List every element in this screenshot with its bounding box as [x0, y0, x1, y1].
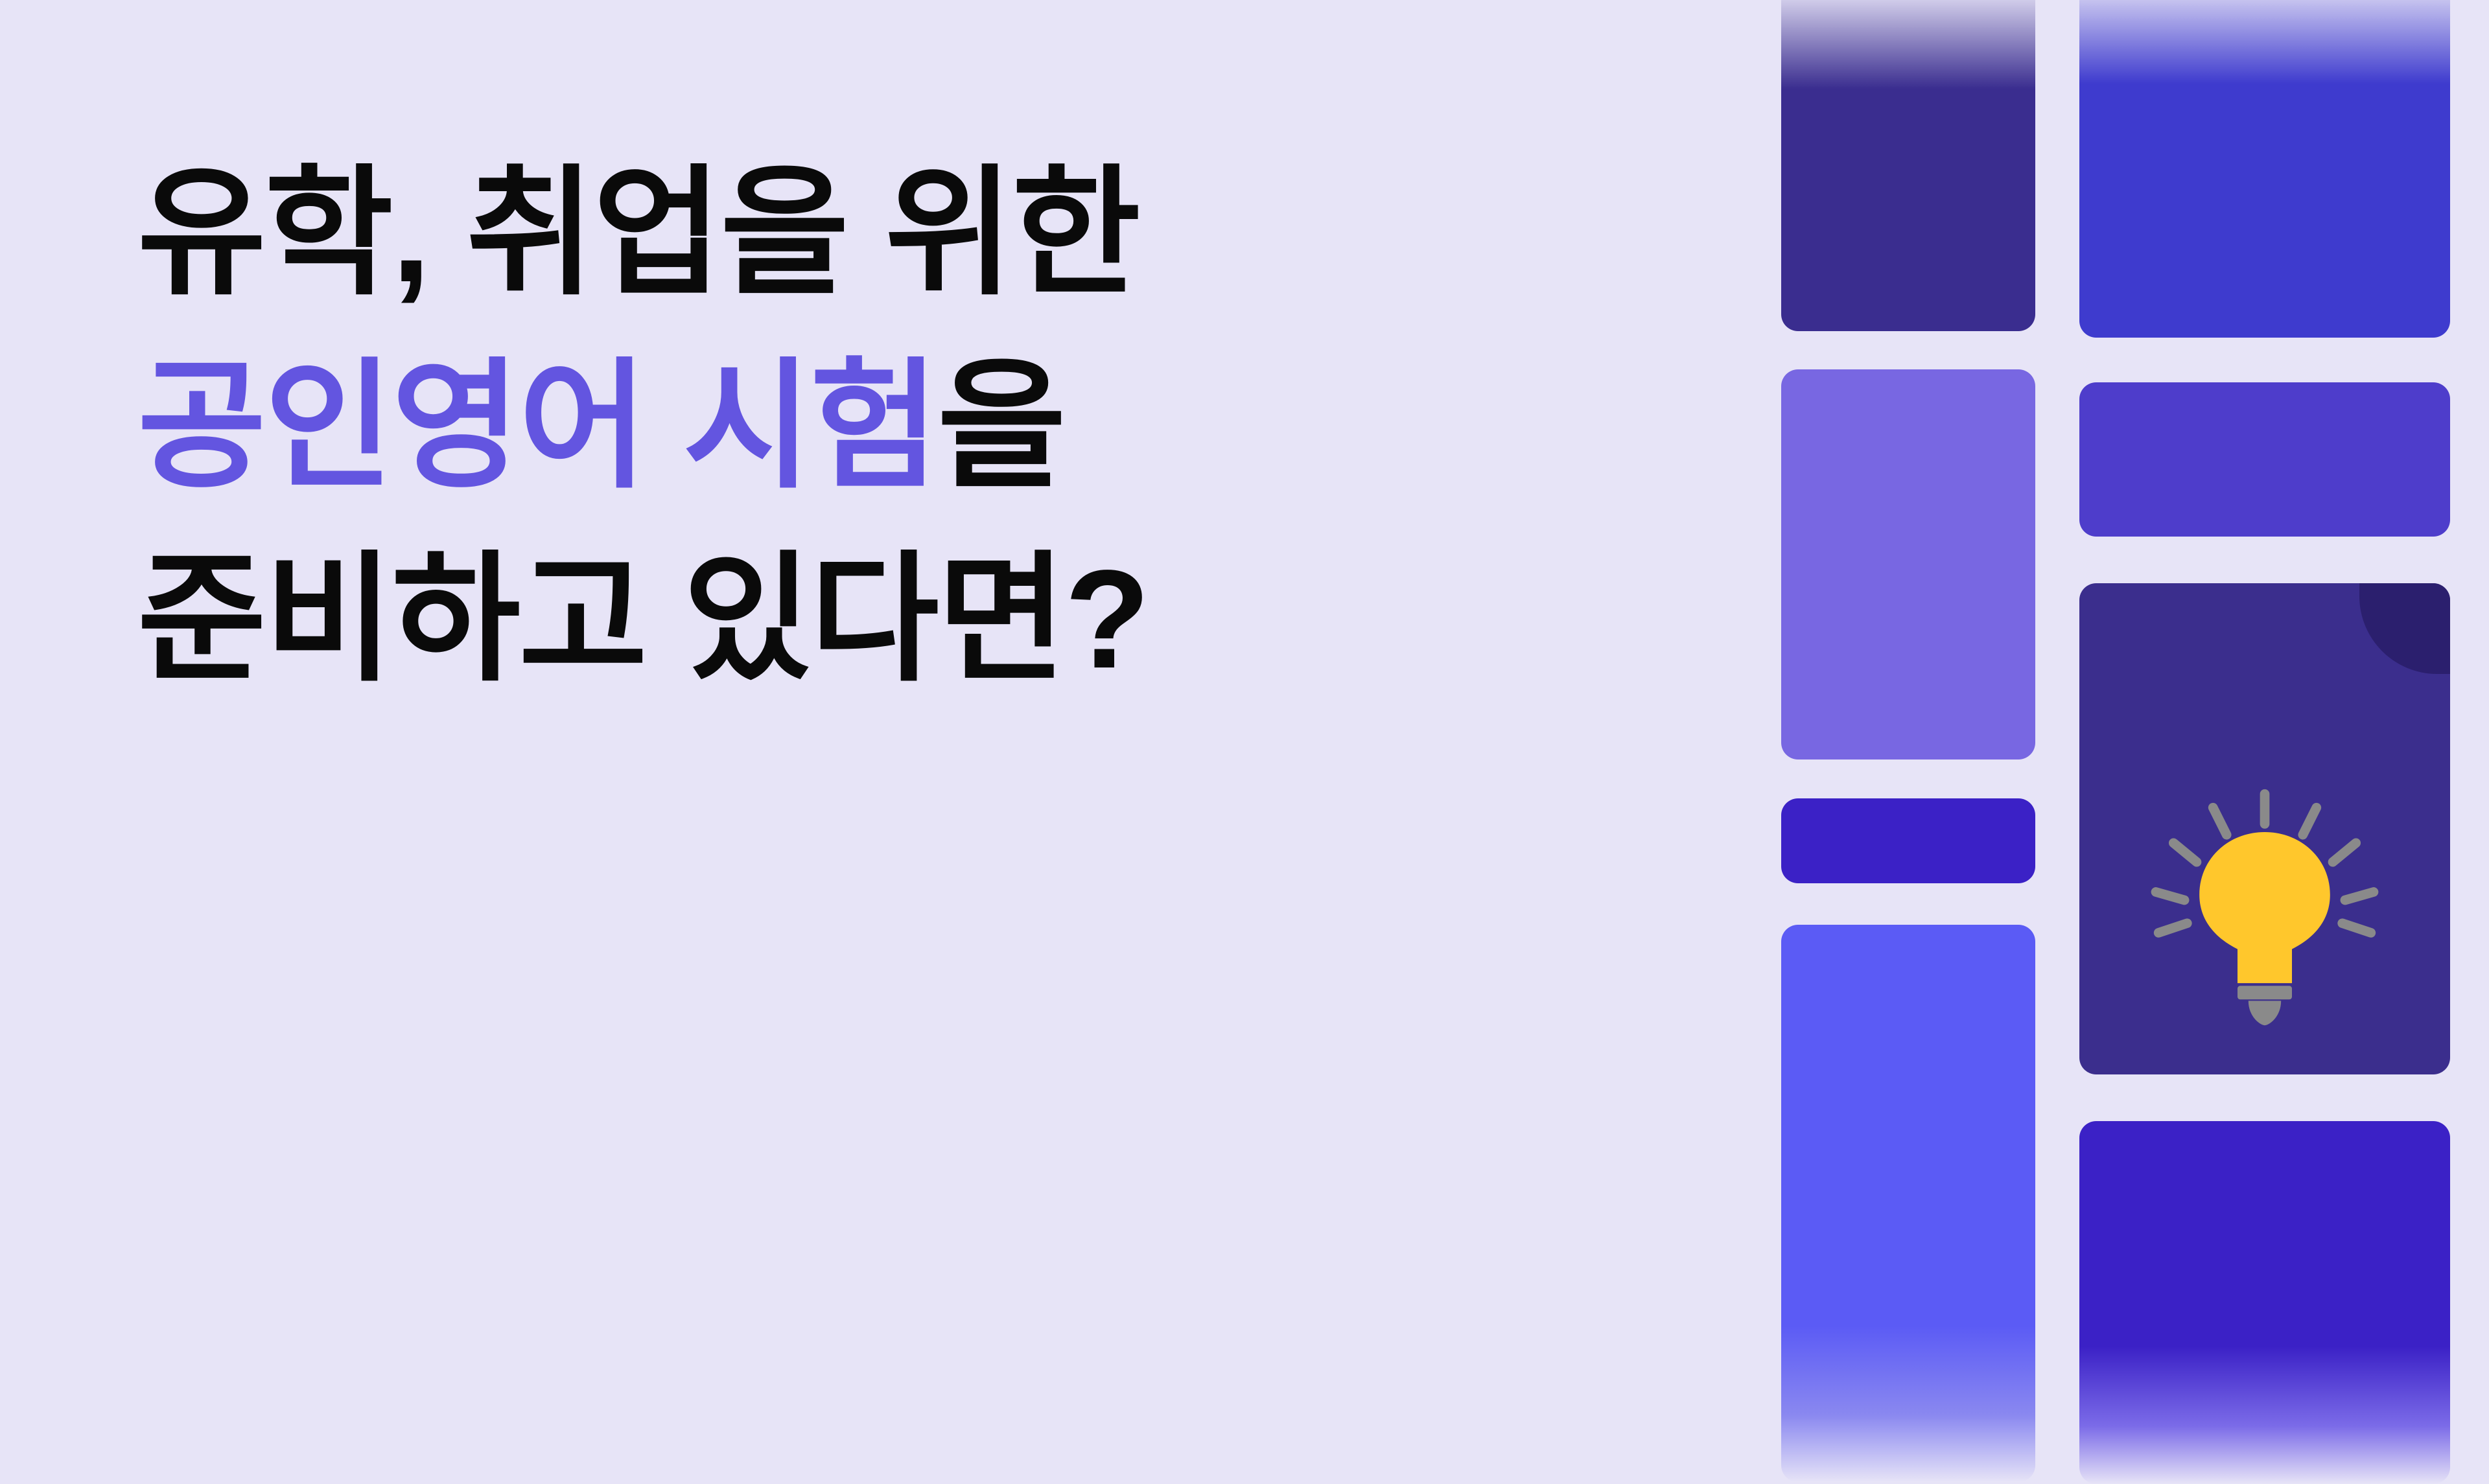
card-indigo-strip [1781, 798, 2035, 883]
headline-block: 유학, 취업을 위한 공인영어 시험을 준비하고 있다면? [137, 136, 1693, 715]
card-indigo-fade-bottom [2079, 1121, 2450, 1484]
card-blue-fade-top [2079, 0, 2450, 338]
headline-line-1: 유학, 취업을 위한 [137, 136, 1693, 329]
card-blue-fade-bottom [1781, 925, 2035, 1482]
headline-line-2: 공인영어 시험을 [137, 329, 1693, 522]
decorative-card-grid [1781, 0, 2489, 1447]
headline-line-3: 준비하고 있다면? [137, 522, 1693, 715]
card-violet-strip [2079, 382, 2450, 537]
card-light-violet [1781, 369, 2035, 759]
card-column-right [2079, 0, 2450, 1447]
lightbulb-icon [2129, 778, 2401, 1050]
card-column-left [1781, 0, 2035, 1447]
card-lightbulb [2079, 583, 2450, 1074]
card-deep-indigo-fade-top [1781, 0, 2035, 331]
folded-corner-icon [2359, 583, 2450, 674]
headline-line-2-tail: 을 [937, 347, 1064, 504]
banner-root: 유학, 취업을 위한 공인영어 시험을 준비하고 있다면? [0, 0, 2489, 1447]
headline-accent-text: 공인영어 시험 [137, 347, 937, 504]
